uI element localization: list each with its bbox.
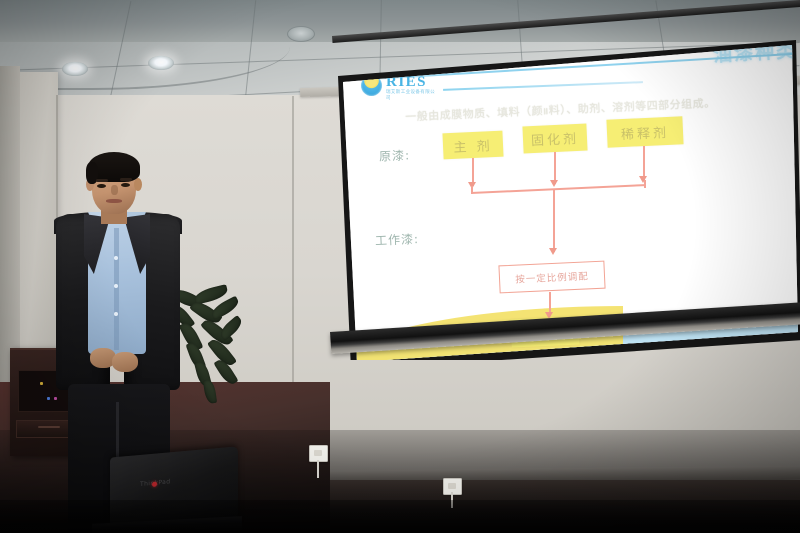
slide-body-text: 一般由成膜物质、填料（颜װ料）、助剂、溶剂等四部分组成。 — [405, 91, 785, 124]
ceiling-downlight — [148, 56, 174, 70]
ingredient-box-thinner: 稀释剂 — [606, 116, 683, 147]
presenter-eye-left — [97, 184, 106, 188]
ceiling-downlight — [62, 62, 88, 76]
connector-corner-left — [471, 186, 473, 194]
connector-corner-right — [644, 180, 646, 188]
presenter-brow-left — [96, 179, 108, 182]
shirt-button — [114, 256, 118, 260]
presenter-eye-right — [121, 183, 130, 187]
connector-vertical — [643, 146, 645, 180]
presenter-mouth — [106, 199, 122, 203]
process-box: 按一定比例调配 — [498, 261, 605, 294]
arrowhead-icon — [639, 176, 647, 183]
shirt-button — [114, 284, 118, 288]
presenter-hand-right — [112, 352, 138, 372]
ries-logo-subtext: 瑞艾斯工业设备有限公司 — [386, 89, 439, 101]
presenter — [38, 152, 198, 482]
arrowhead-icon — [549, 248, 557, 255]
arrowhead-icon — [550, 180, 558, 187]
plant-leaf — [203, 379, 217, 404]
presenter-nose — [111, 185, 118, 195]
slide-header-rule — [443, 81, 643, 90]
outlet-cable — [317, 460, 319, 478]
connector-vertical — [553, 190, 555, 252]
presenter-hair — [88, 152, 140, 182]
presenter-brow-right — [120, 178, 132, 181]
row-label-raw-paint: 原漆: — [379, 146, 411, 164]
ingredient-box-hardener: 固化剂 — [522, 124, 587, 154]
foreground-shadow — [0, 500, 800, 533]
presenter-shirt-placket — [114, 228, 119, 350]
presenter-ear-right — [134, 178, 142, 191]
shirt-button — [114, 312, 118, 316]
row-label-working-paint: 工作漆: — [375, 230, 420, 249]
ceiling-vent — [287, 26, 315, 42]
ingredient-box-main-agent: 主 剂 — [442, 131, 503, 160]
presentation-room-photo: 油漆种类 RIES 瑞艾斯工业设备有限公司 一般由成膜物质、填料（颜װ料）、助剂… — [0, 0, 800, 533]
